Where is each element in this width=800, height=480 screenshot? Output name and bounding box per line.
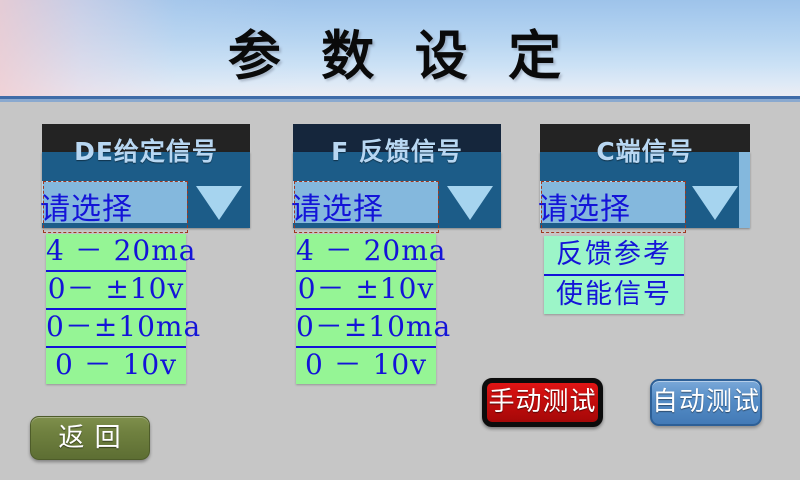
combo-value-c-terminal: 请选择 [538,184,631,228]
page-title: 参 数 设 定 [0,14,800,90]
manual-test-button[interactable]: 手动测试 [482,378,603,427]
auto-test-button[interactable]: 自动测试 [650,379,762,426]
list-item[interactable]: 反馈参考 [544,236,684,276]
panel-title-c-terminal: C端信号 [540,132,750,168]
combo-value-f-feedback: 请选择 [291,184,384,228]
list-item[interactable]: 0－±10ma [296,310,436,348]
list-item[interactable]: 4 － 20ma [46,234,186,272]
panel-de-setpoint-signal: DE给定信号 请选择 [42,124,250,228]
combo-input-f-feedback[interactable]: 请选择 [293,181,438,223]
screen-root: 参 数 设 定 DE给定信号 请选择 4 － 20ma 0－ ±10v 0－±1… [0,0,800,480]
option-list-c-terminal[interactable]: 反馈参考 使能信号 [544,236,684,314]
panel-title-f-feedback: F 反馈信号 [293,132,501,168]
panel-title-de-setpoint: DE给定信号 [42,132,250,168]
option-list-de-setpoint[interactable]: 4 － 20ma 0－ ±10v 0－±10ma 0 － 10v [46,234,186,384]
list-item[interactable]: 4 － 20ma [296,234,436,272]
back-button[interactable]: 返 回 [30,416,150,460]
list-item[interactable]: 0－ ±10v [296,272,436,310]
combo-input-de-setpoint[interactable]: 请选择 [42,181,187,223]
combo-value-de-setpoint: 请选择 [40,184,133,228]
panel-f-feedback-signal: F 反馈信号 请选择 [293,124,501,228]
list-item[interactable]: 0－±10ma [46,310,186,348]
header-divider-light [0,99,800,102]
chevron-down-icon-f-feedback[interactable] [447,186,493,220]
chevron-down-icon-c-terminal[interactable] [692,186,738,220]
list-item[interactable]: 0 － 10v [46,348,186,384]
combo-input-c-terminal[interactable]: 请选择 [540,181,685,223]
option-list-f-feedback[interactable]: 4 － 20ma 0－ ±10v 0－±10ma 0 － 10v [296,234,436,384]
list-item[interactable]: 0－ ±10v [46,272,186,310]
list-item[interactable]: 0 － 10v [296,348,436,384]
list-item[interactable]: 使能信号 [544,276,684,314]
panel-c-terminal-signal: C端信号 请选择 [540,124,750,228]
chevron-down-icon-de-setpoint[interactable] [196,186,242,220]
